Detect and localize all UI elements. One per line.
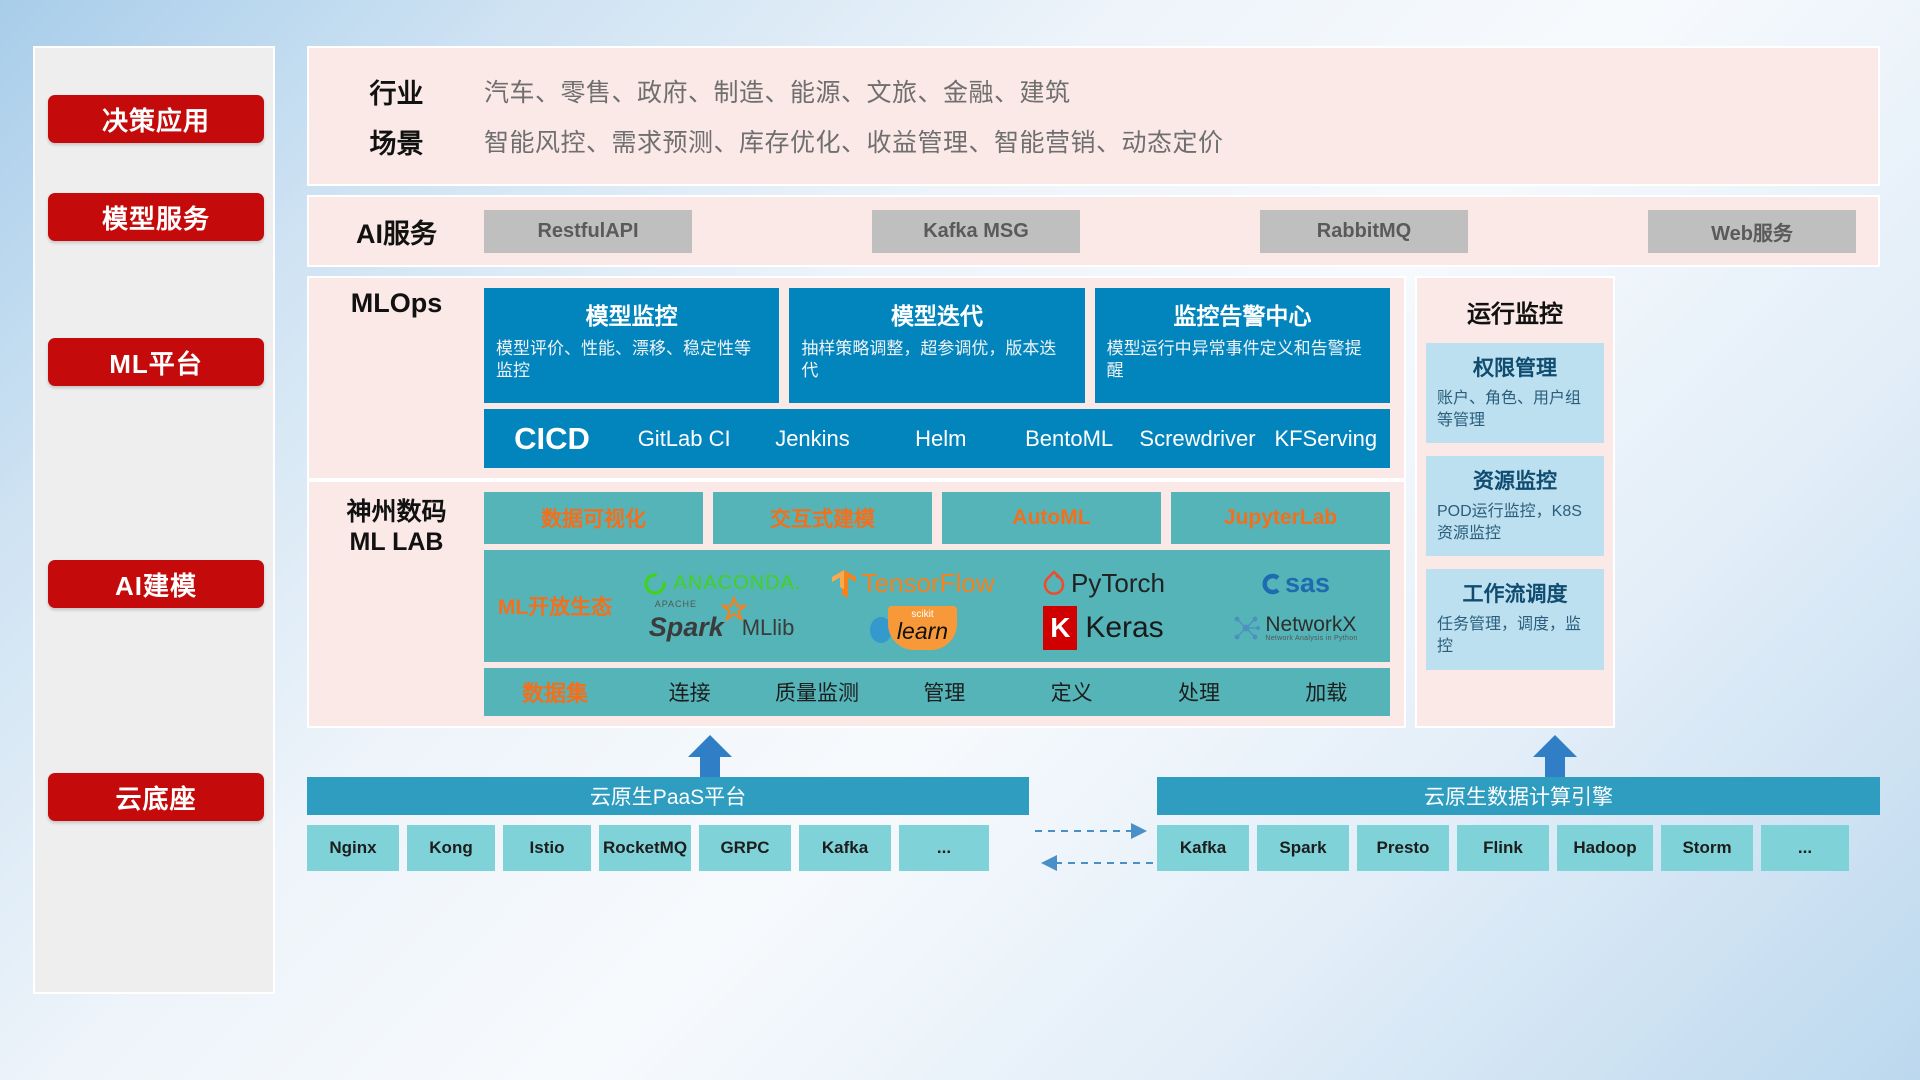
industry-line: 行业 汽车、零售、政府、制造、能源、文旅、金融、建筑 (309, 66, 1878, 116)
engine-chip-storm[interactable]: Storm (1661, 825, 1753, 871)
ai-service-chip-restfulapi[interactable]: RestfulAPI (484, 210, 692, 253)
runtime-monitor-panel: 运行监控 权限管理 账户、角色、用户组等管理 资源监控 POD运行监控，K8S资… (1415, 276, 1615, 728)
side-card-workflow-scheduling[interactable]: 工作流调度 任务管理，调度，监控 (1426, 569, 1604, 669)
side-card-permission-management[interactable]: 权限管理 账户、角色、用户组等管理 (1426, 343, 1604, 443)
dataset-label: 数据集 (484, 676, 626, 708)
card-desc: 任务管理，调度，监控 (1437, 614, 1593, 657)
card-title: 模型监控 (496, 297, 767, 331)
industry-values: 汽车、零售、政府、制造、能源、文旅、金融、建筑 (484, 73, 1071, 109)
cicd-item-bentoml[interactable]: BentoML (1005, 428, 1133, 450)
card-title: 资源监控 (1437, 465, 1593, 495)
keras-mark: K (1043, 606, 1077, 650)
card-desc: 抽样策略调整，超参调优，版本迭代 (801, 338, 1072, 383)
networkx-logo: NetworkX Network Analysis in Python (1231, 613, 1357, 643)
mllab-tool-automl[interactable]: AutoML (942, 492, 1161, 544)
rail-item-model-service[interactable]: 模型服务 (48, 193, 264, 241)
side-card-resource-monitoring[interactable]: 资源监控 POD运行监控，K8S资源监控 (1426, 456, 1604, 556)
rail-item-ml-platform[interactable]: ML平台 (48, 338, 264, 386)
dashed-link-arrows-icon (1029, 819, 1159, 879)
ai-service-label: AI服务 (309, 212, 484, 251)
card-desc: POD运行监控，K8S资源监控 (1437, 501, 1593, 544)
mllab-tool-data-visualization[interactable]: 数据可视化 (484, 492, 703, 544)
keras-wordmark: Keras (1085, 611, 1163, 645)
cloud-group-data-engine: 云原生数据计算引擎 Kafka Spark Presto Flink Hadoo… (1157, 777, 1880, 871)
mllab-label-line1: 神州数码 (309, 492, 484, 528)
card-desc: 账户、角色、用户组等管理 (1437, 388, 1593, 431)
networkx-tagline: Network Analysis in Python (1265, 635, 1357, 642)
card-title: 工作流调度 (1437, 578, 1593, 608)
paas-chip-rocketmq[interactable]: RocketMQ (599, 825, 691, 871)
mllib-wordmark: MLlib (742, 615, 795, 641)
spark-mllib-logo: APACHE Spark MLlib (649, 612, 795, 643)
paas-chip-istio[interactable]: Istio (503, 825, 591, 871)
pytorch-logo: PyTorch (1042, 568, 1165, 599)
engine-chip-kafka[interactable]: Kafka (1157, 825, 1249, 871)
pytorch-wordmark: PyTorch (1071, 568, 1165, 599)
eco-label: ML开放生态 (484, 591, 626, 621)
mlops-label: MLOps (309, 288, 484, 468)
cicd-item-helm[interactable]: Helm (877, 428, 1005, 450)
card-title: 监控告警中心 (1107, 297, 1378, 331)
paas-chip-kafka[interactable]: Kafka (799, 825, 891, 871)
cicd-bar: CICD GitLab CI Jenkins Helm BentoML Scre… (484, 409, 1390, 468)
monitor-panel-title: 运行监控 (1426, 294, 1604, 329)
ai-service-chip-kafka-msg[interactable]: Kafka MSG (872, 210, 1080, 253)
dataset-item-load[interactable]: 加载 (1263, 677, 1390, 707)
card-title: 模型迭代 (801, 297, 1072, 331)
rail-item-ai-modeling[interactable]: AI建模 (48, 560, 264, 608)
arrow-up-data-engine-icon (1525, 735, 1585, 777)
industry-label: 行业 (309, 72, 484, 111)
engine-chip-more[interactable]: ... (1761, 825, 1849, 871)
sas-wordmark: sas (1285, 568, 1330, 599)
paas-chip-more[interactable]: ... (899, 825, 989, 871)
cicd-item-jenkins[interactable]: Jenkins (748, 428, 876, 450)
rail-item-decision-app[interactable]: 决策应用 (48, 95, 264, 143)
mllab-label: 神州数码 ML LAB (309, 492, 484, 716)
card-desc: 模型运行中异常事件定义和告警提醒 (1107, 338, 1378, 383)
spark-wordmark: Spark (649, 612, 724, 642)
scenario-label: 场景 (309, 122, 484, 161)
anaconda-logo: ANACONDA. (642, 571, 802, 597)
ai-modeling-band: 神州数码 ML LAB 数据可视化 交互式建模 AutoML JupyterLa… (307, 480, 1406, 728)
engine-chip-hadoop[interactable]: Hadoop (1557, 825, 1653, 871)
engine-chip-flink[interactable]: Flink (1457, 825, 1549, 871)
engine-chip-presto[interactable]: Presto (1357, 825, 1449, 871)
rail-item-cloud-base[interactable]: 云底座 (48, 773, 264, 821)
anaconda-wordmark: ANACONDA. (674, 572, 802, 595)
paas-chip-kong[interactable]: Kong (407, 825, 495, 871)
decision-application-band: 行业 汽车、零售、政府、制造、能源、文旅、金融、建筑 场景 智能风控、需求预测、… (307, 46, 1880, 186)
scikit-learn-logo: scikit learn (868, 606, 957, 650)
ai-service-chip-rabbitmq[interactable]: RabbitMQ (1260, 210, 1468, 253)
keras-logo: K Keras (1043, 606, 1163, 650)
cicd-item-gitlab-ci[interactable]: GitLab CI (620, 428, 748, 450)
dataset-item-process[interactable]: 处理 (1135, 677, 1262, 707)
card-title: 权限管理 (1437, 352, 1593, 382)
mlops-card-alert-center[interactable]: 监控告警中心 模型运行中异常事件定义和告警提醒 (1095, 288, 1390, 403)
dataset-item-quality[interactable]: 质量监测 (753, 677, 880, 707)
ai-service-band: AI服务 RestfulAPI Kafka MSG RabbitMQ Web服务 (307, 195, 1880, 267)
dataset-item-manage[interactable]: 管理 (881, 677, 1008, 707)
sas-logo: sas (1259, 568, 1330, 599)
paas-header: 云原生PaaS平台 (307, 777, 1029, 815)
paas-chip-grpc[interactable]: GRPC (699, 825, 791, 871)
tensorflow-logo: TensorFlow (831, 568, 995, 599)
ml-platform-band: MLOps 模型监控 模型评价、性能、漂移、稳定性等监控 模型迭代 抽样策略调整… (307, 276, 1406, 480)
data-engine-header: 云原生数据计算引擎 (1157, 777, 1880, 815)
tensorflow-wordmark: TensorFlow (862, 568, 995, 599)
spark-apache-text: APACHE (655, 599, 697, 609)
cicd-item-screwdriver[interactable]: Screwdriver (1133, 428, 1261, 450)
dataset-item-define[interactable]: 定义 (1008, 677, 1135, 707)
scenario-values: 智能风控、需求预测、库存优化、收益管理、智能营销、动态定价 (484, 123, 1224, 159)
mllab-tool-interactive-modeling[interactable]: 交互式建模 (713, 492, 932, 544)
mllab-label-line2: ML LAB (309, 528, 484, 557)
ai-service-chip-web[interactable]: Web服务 (1648, 210, 1856, 253)
arrow-up-paas-icon (680, 735, 740, 777)
ml-open-ecosystem-row: ML开放生态 ANACONDA. (484, 550, 1390, 662)
engine-chip-spark[interactable]: Spark (1257, 825, 1349, 871)
scikit-learn-wordmark: learn (897, 620, 948, 643)
cicd-item-kfserving[interactable]: KFServing (1262, 428, 1390, 450)
cicd-label: CICD (484, 421, 620, 457)
dataset-row: 数据集 连接 质量监测 管理 定义 处理 加载 (484, 668, 1390, 716)
networkx-wordmark: NetworkX (1265, 614, 1357, 635)
mlops-card-model-iteration[interactable]: 模型迭代 抽样策略调整，超参调优，版本迭代 (789, 288, 1084, 403)
paas-chip-nginx[interactable]: Nginx (307, 825, 399, 871)
cloud-group-paas: 云原生PaaS平台 Nginx Kong Istio RocketMQ GRPC… (307, 777, 1029, 871)
mllab-tool-jupyterlab[interactable]: JupyterLab (1171, 492, 1390, 544)
dataset-item-connect[interactable]: 连接 (626, 677, 753, 707)
card-desc: 模型评价、性能、漂移、稳定性等监控 (496, 338, 767, 383)
mlops-card-model-monitoring[interactable]: 模型监控 模型评价、性能、漂移、稳定性等监控 (484, 288, 779, 403)
scenario-line: 场景 智能风控、需求预测、库存优化、收益管理、智能营销、动态定价 (309, 116, 1878, 166)
stack-layer-rail: 决策应用 模型服务 ML平台 AI建模 云底座 (33, 46, 275, 994)
